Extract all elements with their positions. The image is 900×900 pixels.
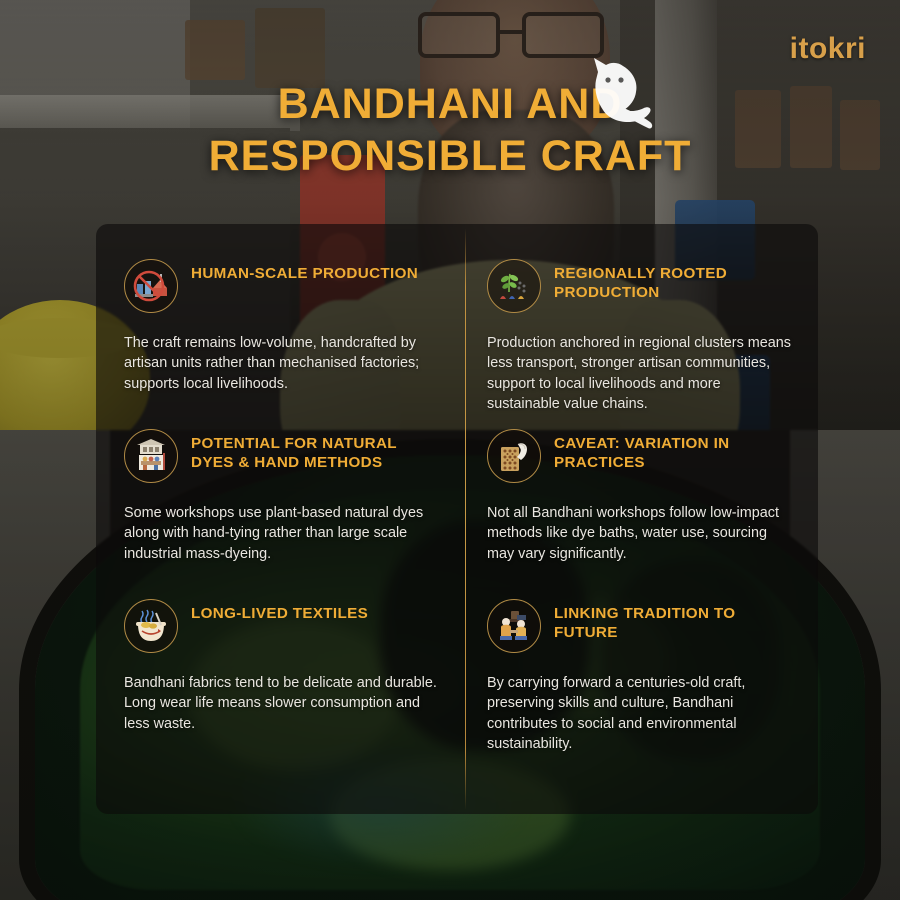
card-title: REGIONALLY ROOTED PRODUCTION xyxy=(554,257,792,303)
card-caveat-variation-practices: CAVEAT: VARIATION IN PRACTICES Not all B… xyxy=(465,394,818,564)
card-body: Some workshops use plant-based natural d… xyxy=(124,503,439,564)
artisan-workshop-building-icon xyxy=(124,429,178,483)
card-title: HUMAN-SCALE PRODUCTION xyxy=(191,257,418,283)
card-body: Not all Bandhani workshops follow low-im… xyxy=(487,503,792,564)
card-body: The craft remains low-volume, handcrafte… xyxy=(124,333,439,394)
white-cat-silhouette-icon xyxy=(578,56,666,134)
plant-sprout-dye-mounds-icon xyxy=(487,259,541,313)
card-linking-tradition-future: LINKING TRADITION TO FUTURE By carrying … xyxy=(465,564,818,814)
card-body: By carrying forward a centuries-old craf… xyxy=(487,673,792,755)
two-artisans-working-icon xyxy=(487,599,541,653)
cards-grid: HUMAN-SCALE PRODUCTION The craft remains… xyxy=(96,224,818,814)
card-regionally-rooted-production: REGIONALLY ROOTED PRODUCTION Production … xyxy=(465,224,818,394)
steaming-dye-pot-icon xyxy=(124,599,178,653)
card-natural-dyes-hand-methods: POTENTIAL FOR NATURAL DYES & HAND METHOD… xyxy=(96,394,465,564)
no-factory-machine-icon xyxy=(124,259,178,313)
title-line-2: RESPONSIBLE CRAFT xyxy=(110,130,790,182)
infographic-poster: itokri BANDHANI AND RESPONSIBLE CRAFT xyxy=(0,0,900,900)
title-line-1: BANDHANI AND xyxy=(110,78,790,130)
poster-title: BANDHANI AND RESPONSIBLE CRAFT xyxy=(0,78,900,183)
brand-logo[interactable]: itokri xyxy=(790,34,866,64)
card-title: LONG-LIVED TEXTILES xyxy=(191,597,368,623)
card-human-scale-production: HUMAN-SCALE PRODUCTION The craft remains… xyxy=(96,224,465,394)
card-title: CAVEAT: VARIATION IN PRACTICES xyxy=(554,427,792,473)
hand-holding-bandhani-fabric-icon xyxy=(487,429,541,483)
card-title: LINKING TRADITION TO FUTURE xyxy=(554,597,792,643)
card-body: Bandhani fabrics tend to be delicate and… xyxy=(124,673,439,734)
card-title: POTENTIAL FOR NATURAL DYES & HAND METHOD… xyxy=(191,427,439,473)
card-long-lived-textiles: LONG-LIVED TEXTILES Bandhani fabrics ten… xyxy=(96,564,465,814)
